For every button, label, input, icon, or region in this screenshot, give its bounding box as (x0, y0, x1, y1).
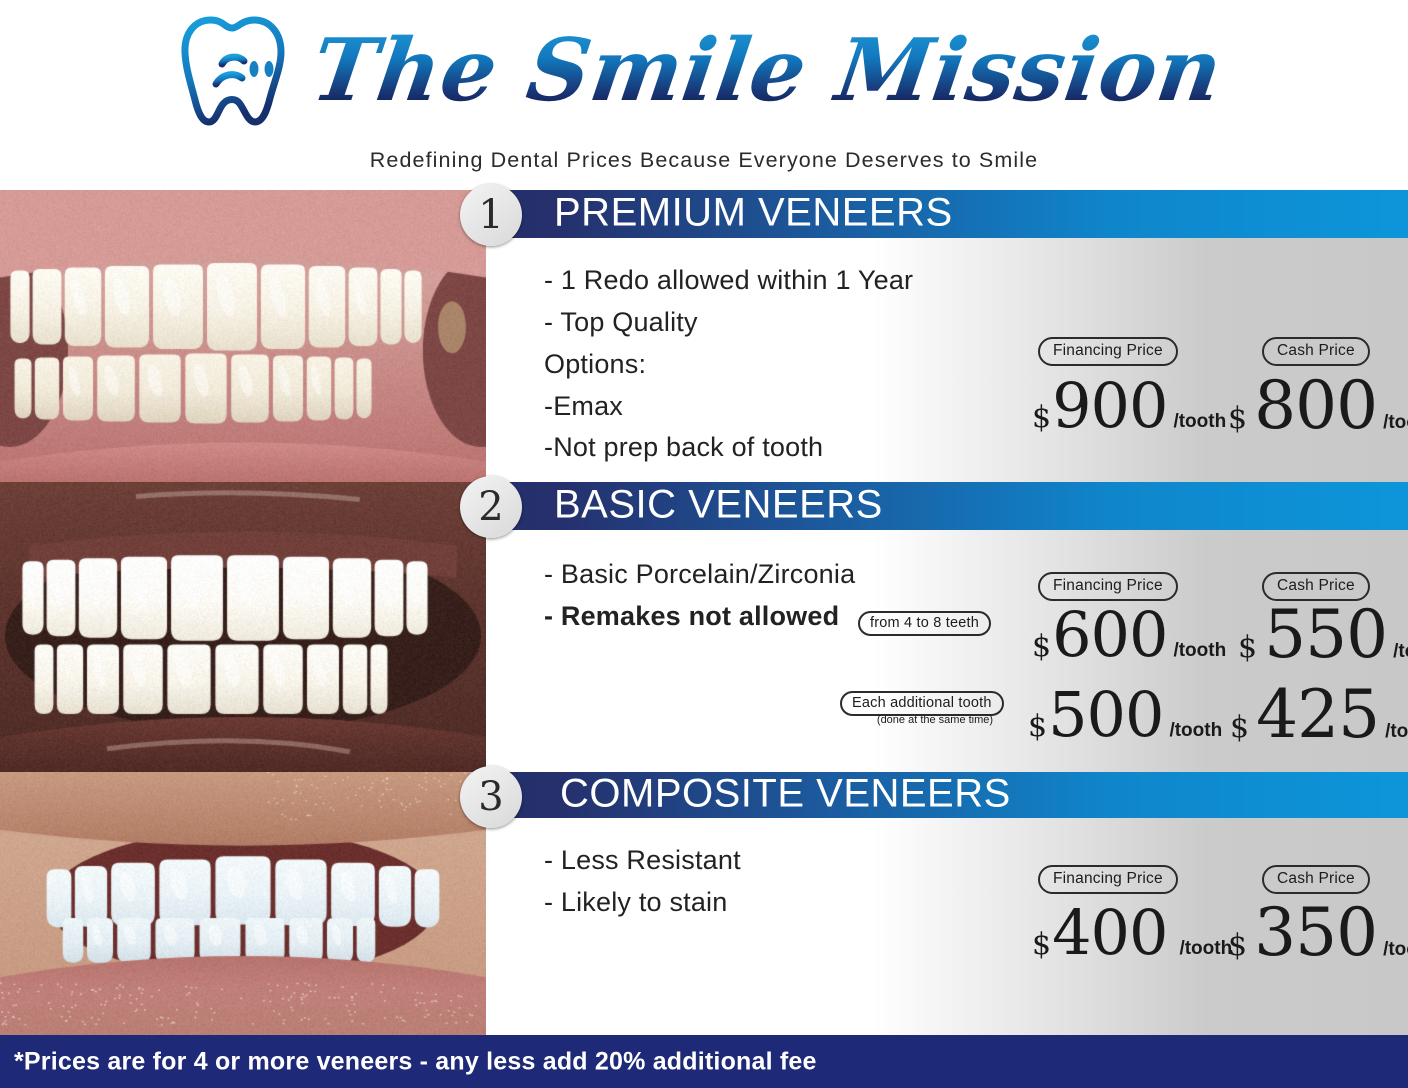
currency-symbol: $ (1230, 710, 1249, 745)
price-value: 800 (1254, 373, 1377, 439)
price-unit: /tooth (1173, 411, 1226, 433)
section-basic-veneers: 2 BASIC VENEERS - Basic Porcelain/Zircon… (0, 482, 1408, 772)
currency-symbol: $ (1238, 630, 1257, 665)
cash-price-header-1: Cash Price (1262, 337, 1370, 366)
feature-list-2: - Basic Porcelain/Zirconia - Remakes not… (544, 554, 855, 638)
smiling-tooth-icon (177, 12, 299, 130)
list-item: - Likely to stain (544, 882, 741, 924)
price-unit: /tooth (1173, 640, 1226, 662)
price-unit: /tooth (1383, 939, 1408, 961)
price-value: 900 (1052, 375, 1167, 437)
price-value: 550 (1264, 602, 1387, 668)
tier-label-row-1: from 4 to 8 teeth (858, 614, 991, 632)
section-composite-veneers: 3 COMPOSITE VENEERS - Less Resistant - L… (0, 772, 1408, 1035)
price-unit: /tooth (1383, 412, 1408, 434)
cash-price-label: Cash Price (1262, 337, 1370, 366)
price-unit: /tooth (1385, 721, 1408, 743)
price-unit: /tooth (1169, 720, 1222, 742)
brand-name: The Smile Mission (307, 28, 1238, 114)
cash-amount-2b: $ 425 /tooth (1230, 682, 1408, 748)
financing-price-header-2: Financing Price (1038, 572, 1178, 601)
financing-price-label: Financing Price (1038, 337, 1178, 366)
currency-symbol: $ (1028, 709, 1047, 744)
financing-price-label: Financing Price (1038, 865, 1178, 894)
list-item: -Emax (544, 386, 913, 428)
brand-lockup: The Smile Mission (0, 8, 1408, 133)
list-item: - Basic Porcelain/Zirconia (544, 554, 855, 596)
section-title-2: BASIC VENEERS (554, 483, 883, 528)
price-value: 600 (1052, 604, 1167, 666)
section-premium-veneers: 1 PREMIUM VENEERS - 1 Redo allowed withi… (0, 190, 1408, 482)
section-title-3: COMPOSITE VENEERS (560, 772, 1011, 817)
price-header-1: Financing Price (1038, 337, 1178, 366)
price-unit: /tooth (1179, 938, 1232, 960)
pricing-sections: 1 PREMIUM VENEERS - 1 Redo allowed withi… (0, 190, 1408, 1035)
currency-symbol: $ (1228, 401, 1247, 436)
currency-symbol: $ (1032, 400, 1051, 435)
tier-label: Each additional tooth (840, 691, 1004, 716)
price-value: 500 (1048, 684, 1163, 746)
cash-price-label: Cash Price (1262, 865, 1370, 894)
price-value: 400 (1052, 902, 1167, 964)
financing-amount-2a: $ 600 /tooth (1032, 604, 1226, 666)
price-value: 425 (1256, 682, 1379, 748)
list-item: -Not prep back of tooth (544, 427, 913, 469)
cash-amount-3: $ 350 /tooth (1228, 900, 1408, 966)
section-title-1: PREMIUM VENEERS (554, 191, 953, 236)
price-value: 350 (1254, 900, 1377, 966)
section-number-badge-3: 3 (460, 766, 522, 828)
list-item: Options: (544, 344, 913, 386)
section-number-badge-1: 1 (460, 184, 522, 246)
cash-amount-2a: $ 550 /tooth (1238, 602, 1408, 668)
financing-amount-3: $ 400 /tooth (1032, 902, 1232, 964)
currency-symbol: $ (1032, 927, 1051, 962)
financing-amount-1: $ 900 /tooth (1032, 375, 1226, 437)
currency-symbol: $ (1228, 928, 1247, 963)
list-item: - Top Quality (544, 302, 913, 344)
price-unit: /tooth (1393, 641, 1408, 663)
brand-tagline: Redefining Dental Prices Because Everyon… (0, 148, 1408, 173)
section-photo-3 (0, 772, 486, 1035)
section-body-3: 3 COMPOSITE VENEERS - Less Resistant - L… (486, 772, 1408, 1035)
tier-label: from 4 to 8 teeth (858, 611, 991, 636)
section-body-2: 2 BASIC VENEERS - Basic Porcelain/Zircon… (486, 482, 1408, 772)
price-area-1: Financing Price Cash Price $ 900 /tooth … (988, 190, 1408, 482)
section-photo-2 (0, 482, 486, 772)
section-photo-1 (0, 190, 486, 482)
list-item: - Less Resistant (544, 840, 741, 882)
list-item: - 1 Redo allowed within 1 Year (544, 260, 913, 302)
tier-label-row-2: Each additional tooth (done at the same … (840, 694, 1030, 726)
page-header: The Smile Mission Redefining Dental Pric… (0, 0, 1408, 190)
cash-price-header-3: Cash Price (1262, 865, 1370, 894)
list-item: - Remakes not allowed (544, 596, 855, 638)
feature-list-1: - 1 Redo allowed within 1 Year - Top Qua… (544, 260, 913, 469)
footer-bar: *Prices are for 4 or more veneers - any … (0, 1035, 1408, 1088)
section-body-1: 1 PREMIUM VENEERS - 1 Redo allowed withi… (486, 190, 1408, 482)
financing-price-header-3: Financing Price (1038, 865, 1178, 894)
financing-price-label: Financing Price (1038, 572, 1178, 601)
footer-disclaimer: *Prices are for 4 or more veneers - any … (14, 1047, 817, 1076)
section-number-badge-2: 2 (460, 476, 522, 538)
cash-amount-1: $ 800 /tooth (1228, 373, 1408, 439)
feature-list-3: - Less Resistant - Likely to stain (544, 840, 741, 924)
price-area-2: Financing Price Cash Price from 4 to 8 t… (988, 482, 1408, 772)
currency-symbol: $ (1032, 629, 1051, 664)
financing-amount-2b: $ 500 /tooth (1028, 684, 1222, 746)
price-area-3: Financing Price Cash Price $ 400 /tooth … (988, 772, 1408, 1035)
